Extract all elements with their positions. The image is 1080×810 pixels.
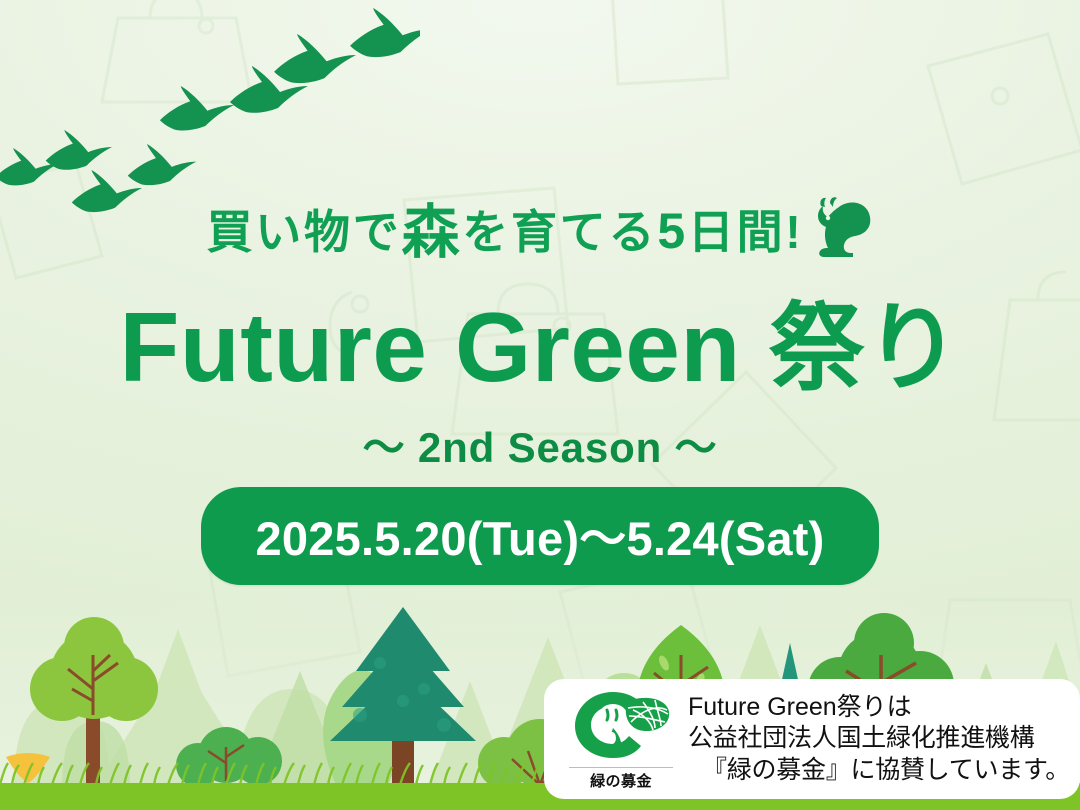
tagline-number: 5: [657, 203, 688, 259]
tagline-prefix: 買い物で: [206, 206, 401, 258]
sponsor-line-1: Future Green祭りは: [688, 692, 1070, 724]
sponsor-badge: 緑の募金 Future Green祭りは 公益社団法人国土緑化推進機構 『緑の募…: [544, 679, 1080, 799]
title-japanese: 祭り: [768, 295, 960, 402]
midori-no-bokin-logo: 緑の募金: [562, 688, 680, 791]
green-g-leaf-icon: [569, 688, 673, 760]
sponsor-message: Future Green祭りは 公益社団法人国土緑化推進機構 『緑の募金』に協賛…: [688, 692, 1070, 787]
tagline-middle: を育てる: [462, 206, 657, 258]
event-date-badge: 2025.5.20(Tue)～5.24(Sat): [201, 487, 878, 585]
squirrel-icon: [808, 196, 874, 273]
title-latin: Future Green: [120, 292, 741, 402]
season-subtitle-text: ～ 2nd Season ～: [363, 424, 718, 471]
headline-group: 買い物で森を育てる5日間! Future Green 祭り ～ 2nd Seas…: [0, 0, 1080, 600]
date-pill-wrap: 2025.5.20(Tue)～5.24(Sat): [0, 487, 1080, 585]
tagline: 買い物で森を育てる5日間!: [0, 196, 1080, 273]
tagline-suffix: 日間!: [688, 206, 804, 258]
logo-caption: 緑の募金: [562, 770, 680, 791]
future-green-festival-banner: 買い物で森を育てる5日間! Future Green 祭り ～ 2nd Seas…: [0, 0, 1080, 810]
sponsor-line-3: 『緑の募金』に協賛しています。: [688, 755, 1070, 787]
season-subtitle-wrap: ～ 2nd Season ～: [0, 414, 1080, 475]
sponsor-line-2: 公益社団法人国土緑化推進機構: [688, 723, 1070, 755]
tagline-emphasis-mori: 森: [402, 200, 463, 265]
logo-divider: [569, 767, 673, 768]
season-subtitle: ～ 2nd Season ～: [349, 414, 732, 475]
page-title: Future Green 祭り: [0, 296, 1080, 400]
